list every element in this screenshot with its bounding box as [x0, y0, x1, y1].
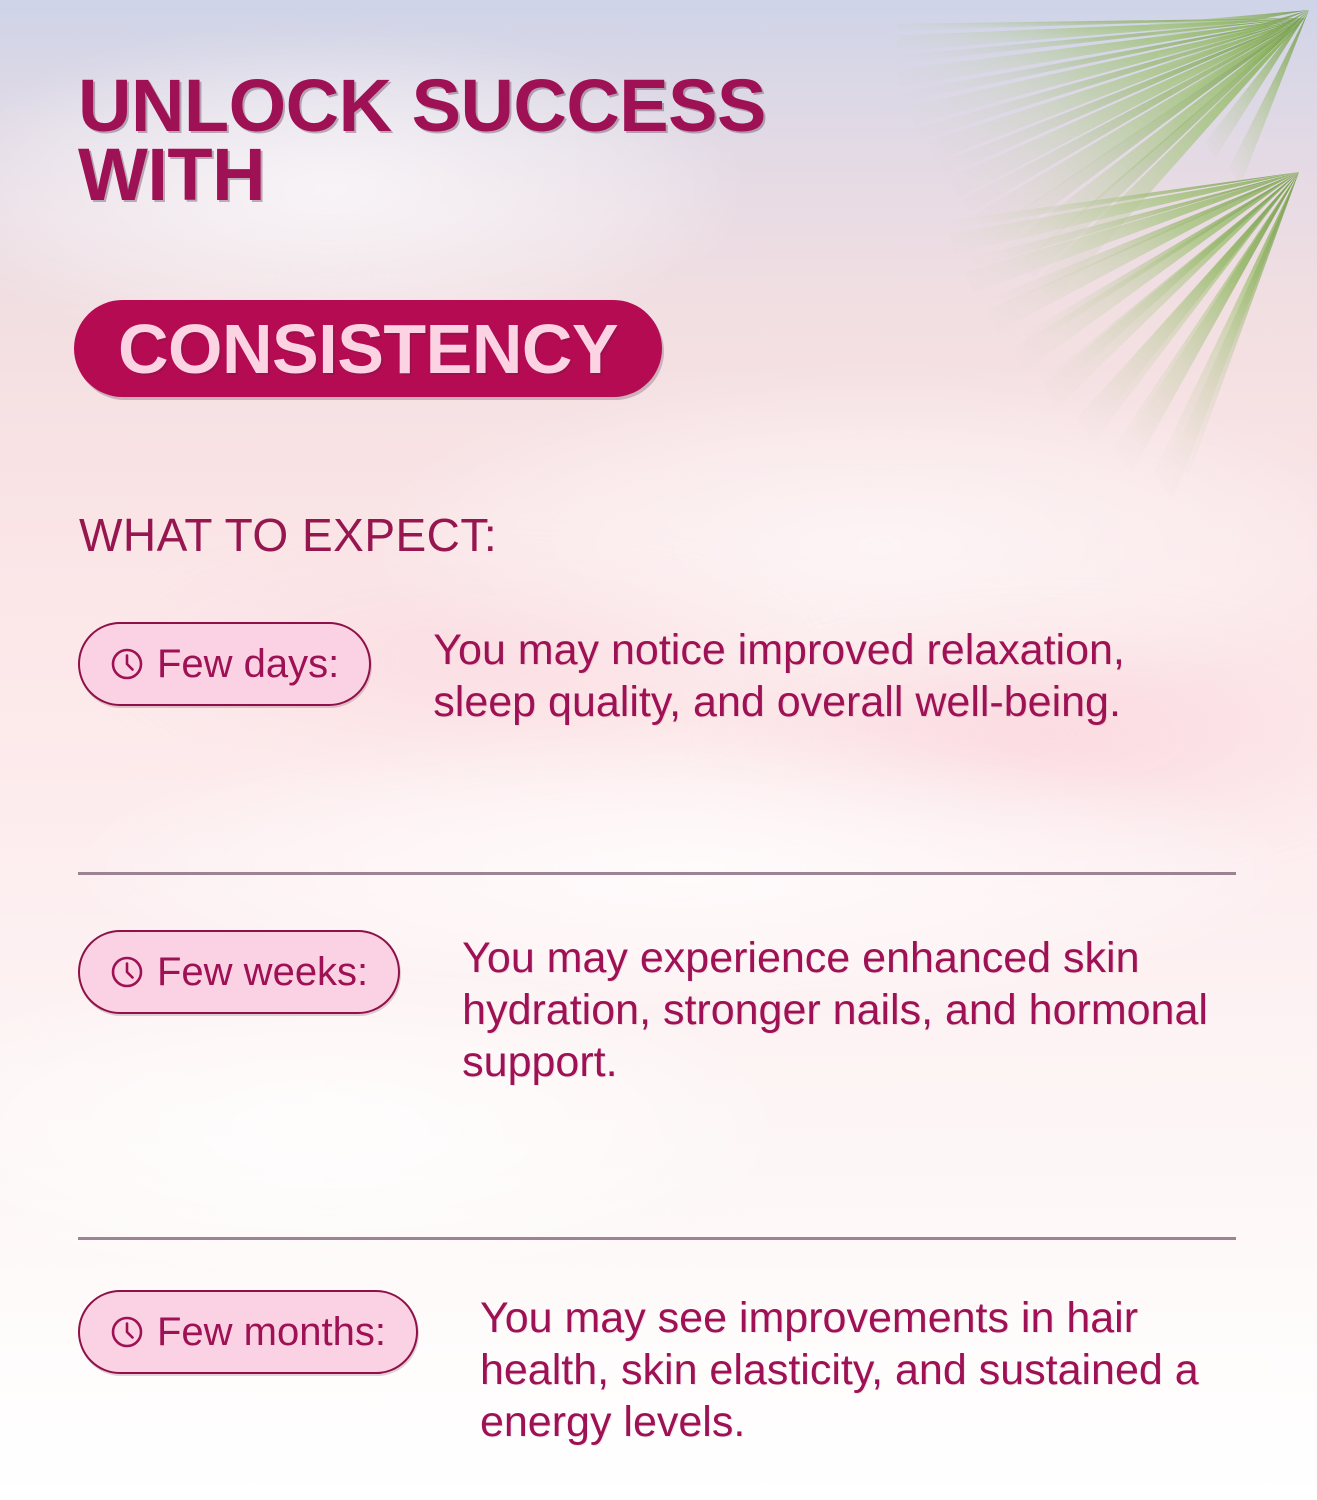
row-divider [78, 1237, 1236, 1240]
consistency-badge: CONSISTENCY [74, 300, 662, 397]
timeframe-label: Few weeks: [157, 952, 368, 992]
clock-icon [110, 1315, 144, 1349]
expectation-row: Few months: You may see improvements in … [78, 1290, 1238, 1448]
timeframe-pill-few-months: Few months: [78, 1290, 418, 1374]
page-title: UNLOCK SUCCESS WITH [78, 72, 978, 210]
consistency-label: CONSISTENCY [118, 314, 618, 384]
section-title: WHAT TO EXPECT: [79, 508, 497, 562]
expectation-row: Few weeks: You may experience enhanced s… [78, 930, 1238, 1088]
timeframe-label: Few months: [157, 1312, 386, 1352]
timeframe-pill-few-days: Few days: [78, 622, 371, 706]
timeframe-label: Few days: [157, 644, 339, 684]
expectation-row: Few days: You may notice improved relaxa… [78, 622, 1238, 728]
headline-line-1: UNLOCK SUCCESS [78, 72, 978, 141]
expectation-text: You may see improvements in hair health,… [418, 1290, 1238, 1448]
timeframe-pill-few-weeks: Few weeks: [78, 930, 400, 1014]
clock-icon [110, 955, 144, 989]
row-divider [78, 872, 1236, 875]
expectation-text: You may experience enhanced skin hydrati… [400, 930, 1238, 1088]
headline-line-2: WITH [78, 141, 978, 210]
expectation-text: You may notice improved relaxation, slee… [371, 622, 1238, 728]
poster-canvas: UNLOCK SUCCESS WITH CONSISTENCY WHAT TO … [0, 0, 1317, 1500]
clock-icon [110, 647, 144, 681]
